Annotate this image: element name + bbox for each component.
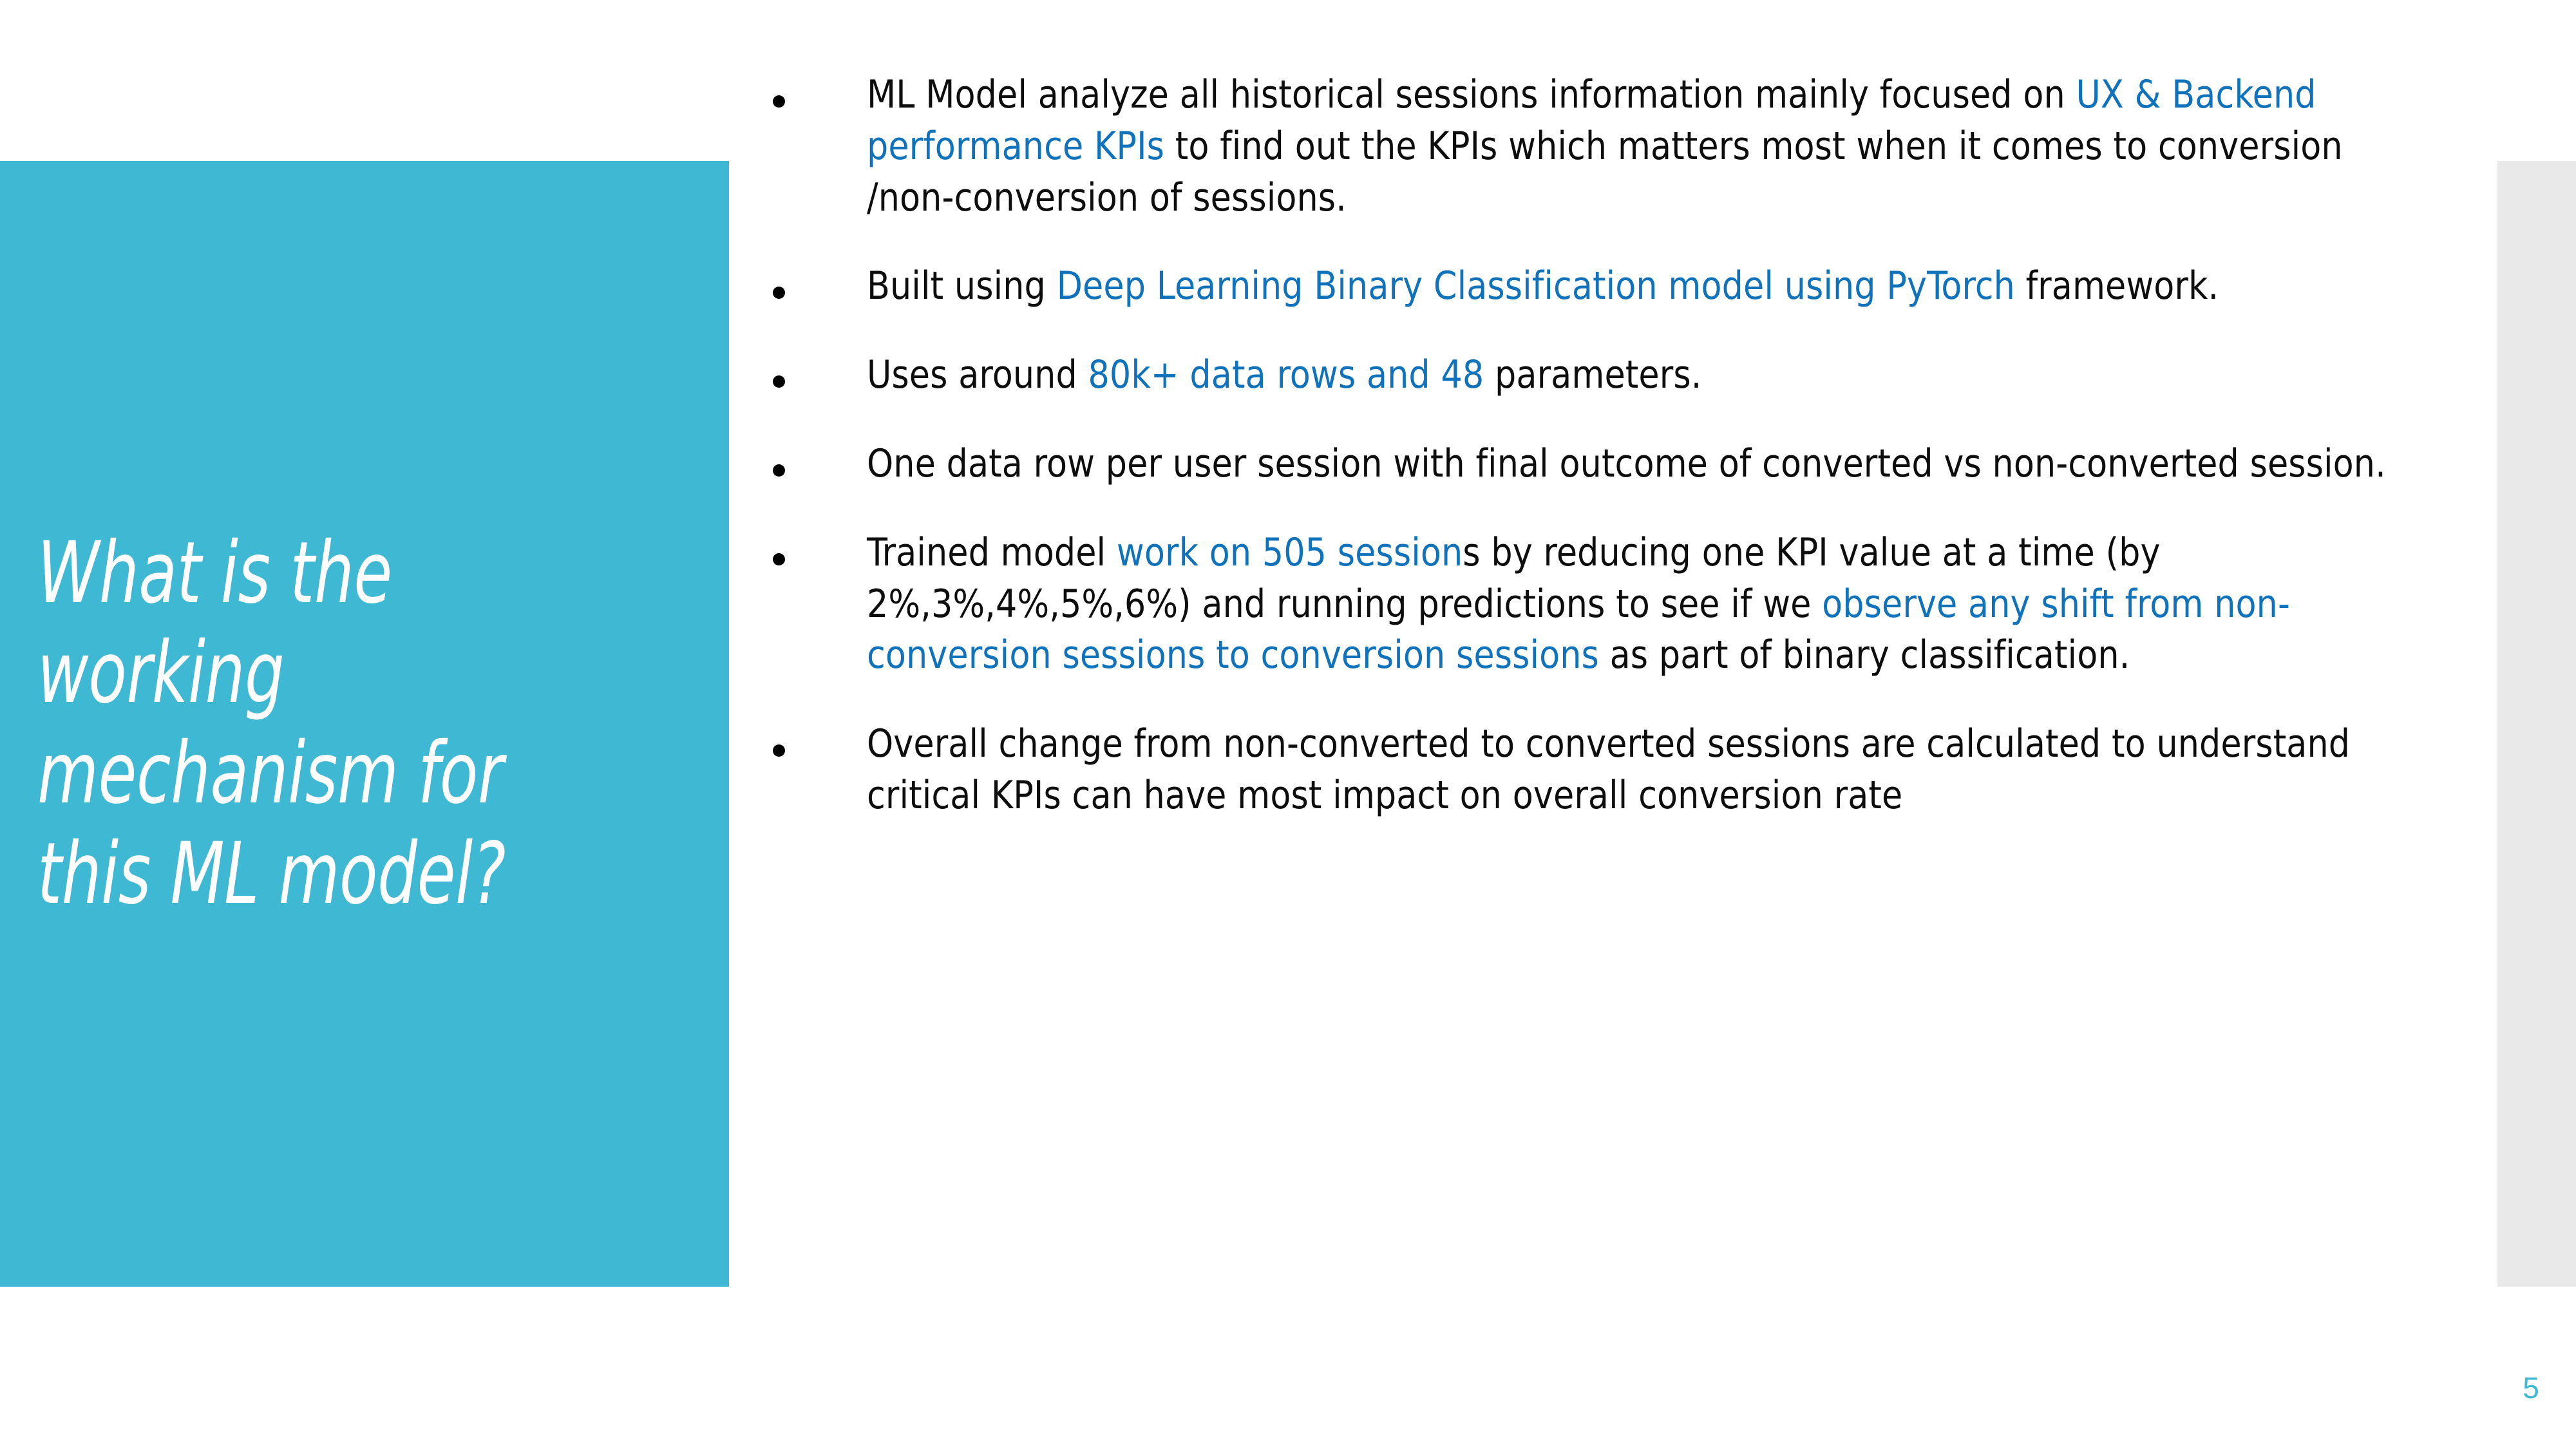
bullet-dot-icon	[773, 464, 785, 477]
bullet-dot-icon	[773, 553, 785, 565]
bullet-dot-icon	[773, 287, 785, 299]
list-item: ML Model analyze all historical sessions…	[773, 70, 2483, 223]
body-phrase: as part of binary classification.	[1599, 632, 2130, 677]
bullet-overall-change: Overall change from non-converted to con…	[867, 719, 2434, 822]
list-item: Overall change from non-converted to con…	[773, 719, 2483, 822]
list-item: One data row per user session with final…	[773, 439, 2483, 490]
bullet-list: ML Model analyze all historical sessions…	[773, 70, 2483, 822]
bullet-dot-icon	[773, 744, 785, 757]
bullet-trained-model: Trained model work on 505 sessions by re…	[867, 527, 2434, 681]
list-item: Trained model work on 505 sessions by re…	[773, 527, 2483, 681]
list-item: Uses around 80k+ data rows and 48 parame…	[773, 350, 2483, 401]
highlighted-phrase: 80k+ data rows and 48	[1088, 352, 1484, 397]
page-number: 5	[2499, 1370, 2563, 1405]
title-panel: What is the working mechanism for this M…	[0, 161, 729, 1287]
bullet-one-data-row: One data row per user session with final…	[867, 439, 2434, 490]
bullet-built-using: Built using Deep Learning Binary Classif…	[867, 261, 2434, 312]
body-phrase: Trained model	[867, 530, 1117, 575]
body-phrase: Uses around	[867, 352, 1088, 397]
page-title: What is the working mechanism for this M…	[37, 524, 571, 925]
highlighted-phrase: Deep Learning Binary Classification mode…	[1057, 263, 2015, 308]
body-phrase: Built using	[867, 263, 1057, 308]
body-phrase: parameters.	[1484, 352, 1701, 397]
list-item: Built using Deep Learning Binary Classif…	[773, 261, 2483, 312]
bullet-data-rows: Uses around 80k+ data rows and 48 parame…	[867, 350, 2434, 401]
body-phrase: framework.	[2015, 263, 2219, 308]
right-side-strip	[2497, 161, 2576, 1287]
body-phrase: Overall change from non-converted to con…	[867, 721, 2350, 818]
body-phrase: One data row per user session with final…	[867, 441, 2386, 486]
bullet-ml-model-analyze: ML Model analyze all historical sessions…	[867, 70, 2434, 223]
body-phrase: ML Model analyze all historical sessions…	[867, 72, 2076, 117]
highlighted-phrase: work on 505 session	[1117, 530, 1463, 575]
slide-canvas: What is the working mechanism for this M…	[0, 0, 2576, 1449]
bullet-dot-icon	[773, 375, 785, 388]
bullet-dot-icon	[773, 95, 785, 108]
